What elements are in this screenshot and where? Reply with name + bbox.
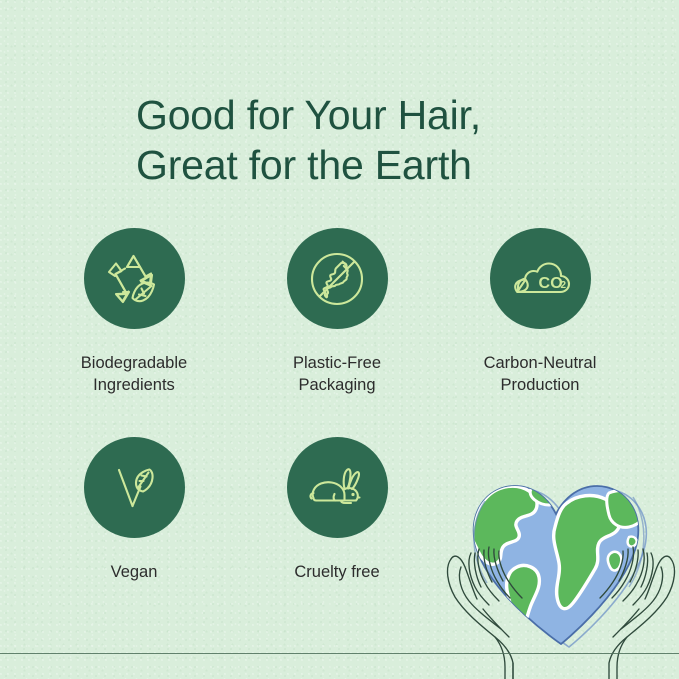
badge-caption: Plastic-Free Packaging bbox=[260, 352, 414, 396]
promo-graphic: Good for Your Hair, Great for the Earth bbox=[0, 0, 679, 679]
badge-cruelty-free: Cruelty free bbox=[260, 437, 414, 583]
page-title: Good for Your Hair, Great for the Earth bbox=[136, 90, 656, 190]
badge-vegan: Vegan bbox=[57, 437, 211, 583]
badge-circle bbox=[287, 437, 388, 538]
rabbit-icon bbox=[303, 456, 371, 520]
badge-circle bbox=[84, 228, 185, 329]
badge-caption: Cruelty free bbox=[260, 561, 414, 583]
badge-caption: Biodegradable Ingredients bbox=[57, 352, 211, 396]
badge-plastic-free-packaging: Plastic-Free Packaging bbox=[260, 228, 414, 396]
badge-biodegradable-ingredients: Biodegradable Ingredients bbox=[57, 228, 211, 396]
badge-circle: CO 2 bbox=[490, 228, 591, 329]
co2-cloud-leaf-icon: CO 2 bbox=[505, 247, 575, 311]
vegan-leaf-v-icon bbox=[102, 456, 166, 520]
badge-circle bbox=[84, 437, 185, 538]
baseline-divider bbox=[0, 653, 679, 654]
badge-circle bbox=[287, 228, 388, 329]
heart-shaped-earth-in-hands bbox=[443, 441, 679, 679]
badge-carbon-neutral-production: CO 2 Carbon-Neutral Production bbox=[463, 228, 617, 396]
svg-text:CO: CO bbox=[539, 275, 563, 292]
recycle-leaf-icon bbox=[102, 247, 166, 311]
badge-caption: Carbon-Neutral Production bbox=[463, 352, 617, 396]
badge-caption: Vegan bbox=[57, 561, 211, 583]
svg-text:2: 2 bbox=[561, 280, 567, 291]
no-plastic-bottle-icon bbox=[305, 247, 369, 311]
